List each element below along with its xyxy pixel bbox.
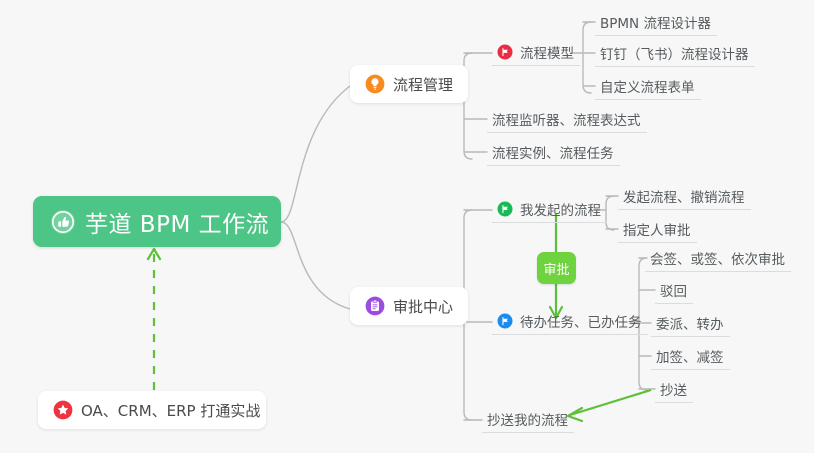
node-label: 自定义流程表单 [600, 76, 695, 96]
node-listener-expression[interactable]: 流程监听器、流程表达式 [487, 106, 647, 133]
node-label: 待办任务、已办任务 [520, 311, 642, 331]
node-custom-form[interactable]: 自定义流程表单 [595, 73, 701, 100]
lightbulb-icon [365, 74, 385, 94]
node-assignee-approve[interactable]: 指定人审批 [618, 216, 697, 243]
node-my-started-process[interactable]: 我发起的流程 [492, 196, 607, 223]
flag-icon [497, 44, 513, 60]
node-approval-center[interactable]: 审批中心 [350, 287, 468, 325]
node-reject[interactable]: 驳回 [655, 277, 693, 304]
node-delegate-transfer[interactable]: 委派、转办 [651, 310, 730, 337]
node-dingtalk-designer[interactable]: 钉钉（飞书）流程设计器 [595, 40, 755, 67]
node-cc[interactable]: 抄送 [655, 376, 693, 403]
node-label: 审批中心 [393, 296, 453, 317]
chip-label: 审批 [543, 259, 569, 278]
flag-icon [497, 313, 513, 329]
node-label: BPMN 流程设计器 [600, 12, 711, 32]
root-label: 芋道 BPM 工作流 [85, 205, 269, 239]
link-root-to-approval-center [281, 222, 350, 309]
mindmap-canvas: 芋道 BPM 工作流 流程管理 流程模型 BPMN 流程设计器 钉钉（飞书）流程… [0, 0, 814, 453]
approval-flow-label[interactable]: 审批 [537, 252, 576, 284]
node-label: 钉钉（飞书）流程设计器 [600, 43, 749, 63]
arrow-note-to-root-head [148, 249, 160, 259]
clipboard-icon [365, 296, 385, 316]
star-icon [53, 400, 73, 420]
node-multi-approve[interactable]: 会签、或签、依次审批 [645, 245, 791, 272]
node-label: 加签、减签 [656, 346, 724, 366]
node-todo-done-task[interactable]: 待办任务、已办任务 [492, 308, 648, 335]
node-start-cancel[interactable]: 发起流程、撤销流程 [618, 183, 751, 210]
node-label: 委派、转办 [656, 313, 724, 333]
node-label: 发起流程、撤销流程 [623, 186, 745, 206]
arrow-cc-to-ccme [570, 390, 651, 415]
integration-note-card[interactable]: OA、CRM、ERP 打通实战 [38, 391, 266, 429]
node-label: 抄送我的流程 [487, 409, 568, 429]
node-label: 驳回 [660, 280, 687, 300]
node-label: 我发起的流程 [520, 199, 601, 219]
node-label: 流程模型 [520, 42, 574, 62]
integration-note-label: OA、CRM、ERP 打通实战 [81, 400, 260, 421]
link-root-to-process-management [281, 86, 350, 222]
link-model-bracket [583, 22, 591, 93]
flag-icon [497, 201, 513, 217]
node-bpmn-designer[interactable]: BPMN 流程设计器 [595, 9, 717, 36]
node-label: 指定人审批 [623, 219, 691, 239]
node-process-model[interactable]: 流程模型 [492, 39, 580, 66]
node-add-remove-sign[interactable]: 加签、减签 [651, 343, 730, 370]
thumbs-up-icon [50, 209, 76, 235]
node-label: 流程管理 [393, 74, 453, 95]
node-process-management[interactable]: 流程管理 [350, 65, 468, 103]
node-label: 会签、或签、依次审批 [650, 248, 785, 268]
node-instance-task[interactable]: 流程实例、流程任务 [487, 139, 620, 166]
node-label: 流程实例、流程任务 [492, 142, 614, 162]
root-node[interactable]: 芋道 BPM 工作流 [33, 196, 281, 247]
node-cc-to-me[interactable]: 抄送我的流程 [482, 406, 574, 433]
node-label: 流程监听器、流程表达式 [492, 109, 641, 129]
node-label: 抄送 [660, 379, 687, 399]
link-mystart-bracket [606, 196, 614, 230]
